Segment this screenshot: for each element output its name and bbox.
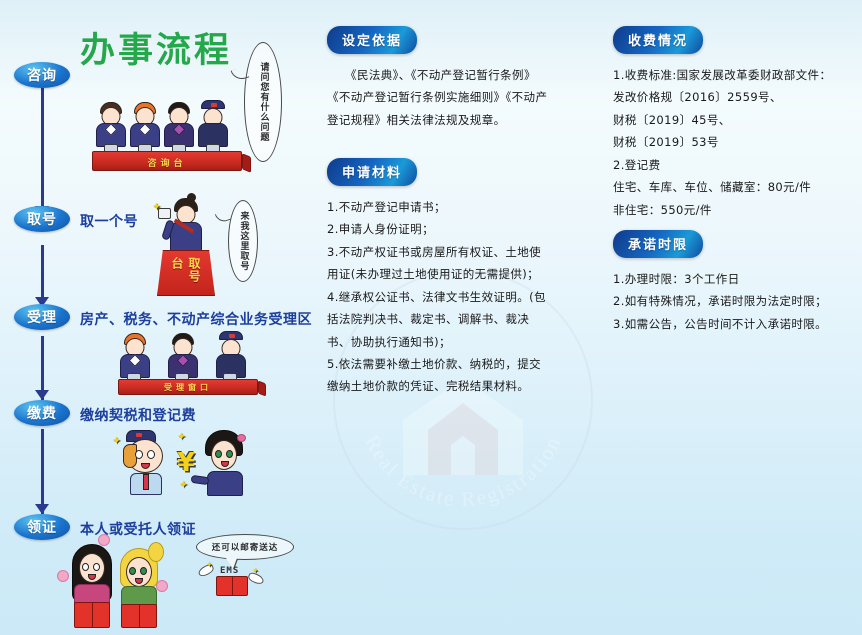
flow-connector-4 <box>41 429 44 514</box>
panel-line: 4.继承权公证书、法律文书生效证明。(包 <box>327 286 577 308</box>
desk-label: 咨询台 <box>93 156 241 169</box>
step-caption-payment: 缴纳契税和登记费 <box>80 405 196 425</box>
panel-line: 住宅、车库、车位、储藏室：80元/件 <box>613 176 858 198</box>
panel-line: 2.如有特殊情况，承诺时限为法定时限； <box>613 290 858 312</box>
panel-title-basis: 设定依据 <box>327 26 417 54</box>
panel-line: 财税〔2019〕45号、 <box>613 109 858 131</box>
ticket-stand: 取号台 <box>157 250 215 296</box>
clerk-figure-officer <box>196 100 230 150</box>
panel-line: 《民法典》、《不动产登记暂行条例》 <box>327 64 572 86</box>
step-caption-collect: 本人或受托人领证 <box>80 519 196 539</box>
panel-line: 发改价格规〔2016〕2559号、 <box>613 86 858 108</box>
speech-bubble-text: 来我这里取号 <box>239 211 248 271</box>
panel-line: 财税〔2019〕53号 <box>613 131 858 153</box>
officer-girl-figure <box>115 430 171 496</box>
certificate-book-mail <box>216 576 248 596</box>
scene-mail: 还可以邮寄送达 EMS ✦ ✦ <box>182 534 297 596</box>
step-badge-payment[interactable]: 缴费 <box>14 400 70 426</box>
poster-canvas: Real Estate Registration 办事流程 咨询 <box>0 0 862 635</box>
panel-line: 登记规程》相关法律法规及规章。 <box>327 109 572 131</box>
panel-body-materials: 1.不动产登记申请书； 2.申请人身份证明； 3.不动产权证书或房屋所有权证、土… <box>327 196 577 398</box>
citizen-figure-2 <box>116 548 164 628</box>
panel-body-fees: 1.收费标准:国家发展改革委财政部文件： 发改价格规〔2016〕2559号、 财… <box>613 64 858 221</box>
clerk-figure-officer <box>214 331 248 379</box>
scene-consultation: 咨询台 <box>92 98 252 176</box>
panel-line: 用证(未办理过土地使用证的无需提供)； <box>327 263 577 285</box>
panel-fees: 收费情况 1.收费标准:国家发展改革委财政部文件： 发改价格规〔2016〕255… <box>613 26 858 221</box>
ticket-stand-label: 取号台 <box>169 257 203 295</box>
speech-bubble-text: 请问您有什么问题 <box>259 62 268 142</box>
panel-timelimit: 承诺时限 1.办理时限：3个工作日 2.如有特殊情况，承诺时限为法定时限； 3.… <box>613 230 858 335</box>
speech-bubble-ticket: 来我这里取号 <box>228 200 258 282</box>
panel-body-basis: 《民法典》、《不动产登记暂行条例》 《不动产登记暂行条例实施细则》《不动产 登记… <box>327 64 572 131</box>
scene-acceptance: 受理窗口 <box>118 330 268 392</box>
panel-line: 5.依法需要补缴土地价款、纳税的，提交 <box>327 353 577 375</box>
panel-line: 1.收费标准:国家发展改革委财政部文件： <box>613 64 858 86</box>
speech-bubble-mail: 还可以邮寄送达 <box>196 534 294 560</box>
step-badge-collect[interactable]: 领证 <box>14 514 70 540</box>
panel-line: 1.办理时限：3个工作日 <box>613 268 858 290</box>
desk-side <box>258 380 266 396</box>
panel-title-fees: 收费情况 <box>613 26 703 54</box>
panel-materials: 申请材料 1.不动产登记申请书； 2.申请人身份证明； 3.不动产权证书或房屋所… <box>327 158 577 398</box>
panel-body-timelimit: 1.办理时限：3个工作日 2.如有特殊情况，承诺时限为法定时限； 3.如需公告，… <box>613 268 858 335</box>
certificate-book <box>121 604 157 628</box>
flow-arrow-4 <box>35 504 49 514</box>
step-caption-ticket: 取一个号 <box>80 211 138 231</box>
panel-line: 3.不动产权证书或房屋所有权证、土地使 <box>327 241 577 263</box>
clerk-figure <box>162 102 196 150</box>
panel-line: 缴纳土地价款的凭证、完税结果材料。 <box>327 375 577 397</box>
citizen-figure-1 <box>70 544 118 628</box>
step-badge-ticket[interactable]: 取号 <box>14 206 70 232</box>
clerk-figure-ticket: ✦ <box>166 198 206 256</box>
step-badge-consult[interactable]: 咨询 <box>14 62 70 88</box>
panel-line: 2.申请人身份证明； <box>327 218 577 240</box>
panel-line: 非住宅：550元/件 <box>613 199 858 221</box>
citizen-girl-figure <box>201 430 249 496</box>
speech-bubble-text: 还可以邮寄送达 <box>212 541 279 553</box>
watermark-text: Real Estate Registration <box>360 431 566 511</box>
consultation-desk: 咨询台 <box>92 151 242 171</box>
flow-connector-1 <box>41 88 44 216</box>
clerk-figure <box>128 102 162 150</box>
scene-payment: ✦ ✦ ¥ ✦ <box>115 428 245 498</box>
panel-title-materials: 申请材料 <box>327 158 417 186</box>
panel-title-timelimit: 承诺时限 <box>613 230 703 258</box>
flow-arrow-3 <box>35 390 49 400</box>
ems-label: EMS <box>220 566 239 576</box>
speech-bubble-consult: 请问您有什么问题 <box>244 42 282 162</box>
desk-label: 受理窗口 <box>119 382 257 393</box>
acceptance-desk: 受理窗口 <box>118 379 258 395</box>
panel-line: 2.登记费 <box>613 154 858 176</box>
panel-line: 1.不动产登记申请书； <box>327 196 577 218</box>
desk-side <box>242 153 251 173</box>
scene-collect <box>60 538 190 630</box>
panel-line: 括法院判决书、裁定书、调解书、裁决 <box>327 308 577 330</box>
currency-symbol: ¥ <box>177 448 195 478</box>
page-title: 办事流程 <box>80 22 232 73</box>
panel-line: 3.如需公告，公告时间不计入承诺时限。 <box>613 313 858 335</box>
step-badge-accept[interactable]: 受理 <box>14 304 70 330</box>
panel-line: 书、协助执行通知书)； <box>327 331 577 353</box>
panel-basis: 设定依据 《民法典》、《不动产登记暂行条例》 《不动产登记暂行条例实施细则》《不… <box>327 26 572 131</box>
clerk-figure <box>94 102 128 150</box>
certificate-book <box>74 602 110 628</box>
step-caption-accept: 房产、税务、不动产综合业务受理区 <box>80 309 312 329</box>
panel-line: 《不动产登记暂行条例实施细则》《不动产 <box>327 86 572 108</box>
